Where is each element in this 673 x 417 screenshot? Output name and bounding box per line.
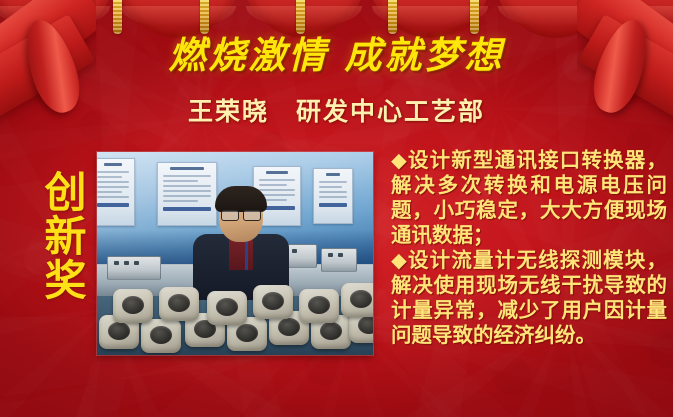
gold-tassel-icon bbox=[113, 0, 122, 34]
achievement-list: ◆设计新型通讯接口转换器，解决多次转换和电源电压问题，小巧稳定，大大方便现场通讯… bbox=[391, 148, 667, 348]
gold-tassel-icon bbox=[388, 0, 397, 34]
poster-subtitle: 王荣晓 研发中心工艺部 bbox=[0, 96, 673, 128]
photo-flow-meters bbox=[97, 285, 373, 355]
photo-person-lanyard bbox=[245, 240, 248, 270]
gold-tassel-icon bbox=[470, 0, 479, 34]
photo-person bbox=[193, 190, 289, 300]
photo-wall-poster bbox=[313, 168, 353, 224]
photo-instrument bbox=[107, 256, 161, 280]
photo-instrument bbox=[321, 248, 357, 272]
photo-person-hair bbox=[215, 186, 267, 212]
photo-person-glasses-icon bbox=[221, 210, 261, 219]
poster-title: 燃烧激情 成就梦想 bbox=[0, 31, 673, 79]
achievement-item-1: ◆设计新型通讯接口转换器，解决多次转换和电源电压问题，小巧稳定，大大方便现场通讯… bbox=[391, 148, 667, 248]
photo-wall-poster bbox=[97, 158, 135, 226]
achievement-item-2: ◆设计流量计无线探测模块，解决使用现场无线干扰导致的计量异常，减少了用户因计量问… bbox=[391, 248, 667, 348]
gold-tassel-icon bbox=[296, 0, 305, 34]
portrait-photo bbox=[97, 152, 373, 355]
award-poster: 燃烧激情 成就梦想 王荣晓 研发中心工艺部 创新奖 bbox=[0, 0, 673, 417]
gold-tassel-icon bbox=[200, 0, 209, 34]
award-label: 创新奖 bbox=[40, 166, 84, 306]
